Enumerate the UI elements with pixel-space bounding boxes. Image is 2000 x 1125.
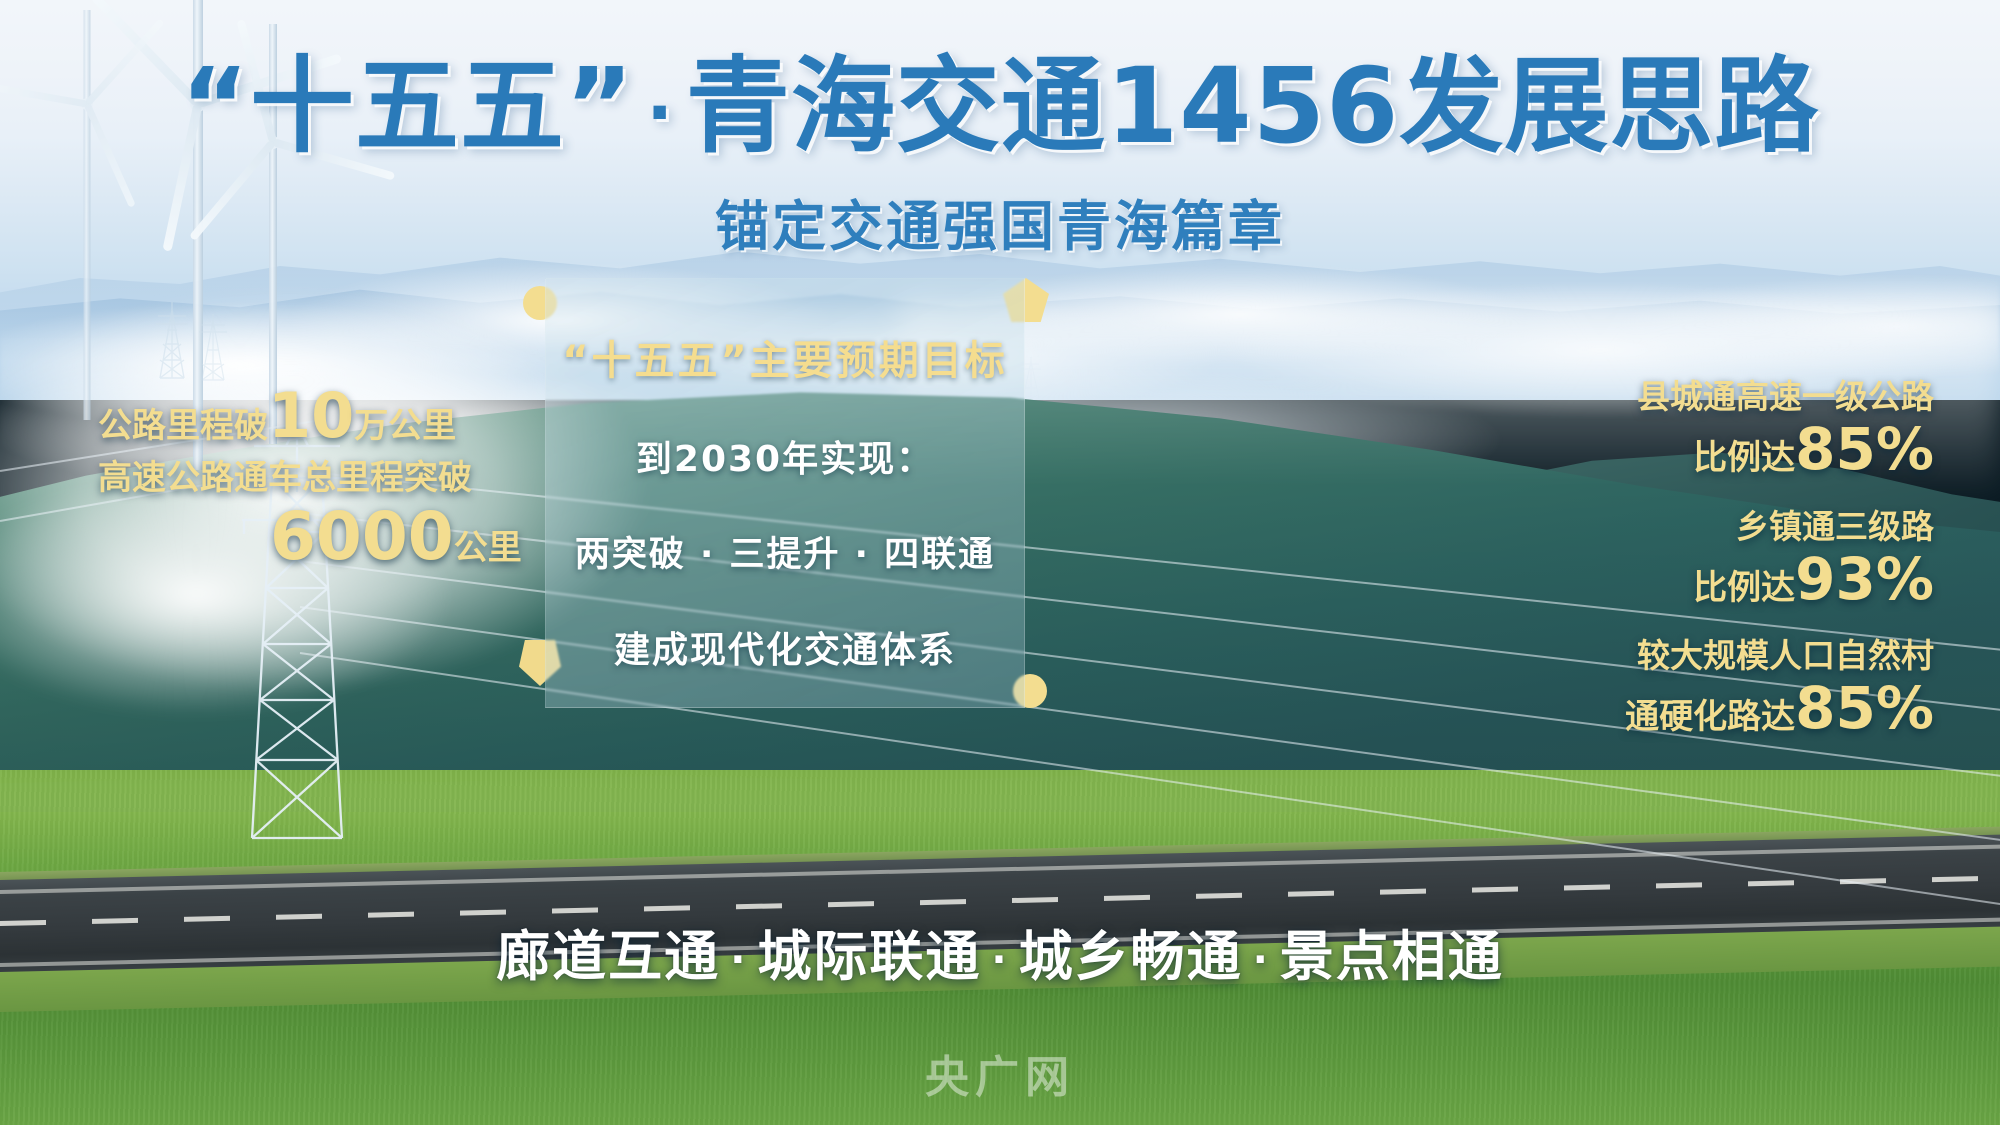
banner-item-3: 城乡畅通 [1019,925,1243,988]
stat-left-1-label: 公路里程破 [98,406,268,446]
page-title: “十五五”·青海交通1456发展思路 [0,48,2000,164]
stat-left-2-label: 高速公路通车总里程突破 [98,458,472,498]
stat-left-item-2-value: 6000公里 [270,504,528,570]
goals-line-target-year: 到2030年实现： [636,430,934,482]
stat-right-2-value-prefix: 比例达 [1693,568,1795,608]
stats-left-block: 公路里程破10万公里 高速公路通车总里程突破 6000公里 [98,382,528,570]
stat-right-1-value: 85 [1795,415,1876,483]
stat-right-2-label: 乡镇通三级路 [1464,508,1934,546]
stat-left-item-1: 公路里程破10万公里 [98,382,528,450]
stat-right-3-value-row: 通硬化路达85% [1464,677,1934,741]
watermark-logo: 央广网 [0,1041,2000,1105]
stat-left-1-value: 10 [268,379,354,452]
banner-sep-3: · [1243,937,1280,983]
banner-sep-1: · [720,937,757,983]
stat-right-1-value-row: 比例达85% [1464,418,1934,482]
stat-right-item-2: 乡镇通三级路 比例达93% [1464,508,1934,612]
stats-right-block: 县城通高速一级公路 比例达85% 乡镇通三级路 比例达93% 较大规模人口自然村… [1464,378,1934,767]
stat-right-2-unit: % [1876,545,1934,613]
goals-panel-content: “十五五”主要预期目标 到2030年实现： 两突破 · 三提升 · 四联通 建成… [545,278,1025,708]
headline-separator: · [634,72,686,154]
headline-plan-name: 十五五 [250,45,565,167]
stat-right-2-value-row: 比例达93% [1464,548,1934,612]
stat-left-1-unit: 万公里 [354,406,456,446]
bottom-banner: 廊道互通·城际联通·城乡畅通·景点相通 [0,912,2000,991]
stat-right-3-label: 较大规模人口自然村 [1464,637,1934,675]
stat-right-1-unit: % [1876,415,1934,483]
goals-line-system: 建成现代化交通体系 [614,621,956,673]
stat-right-item-1: 县城通高速一级公路 比例达85% [1464,378,1934,482]
poster-root: “十五五”·青海交通1456发展思路 锚定交通强国青海篇章 “十五五”主要预期目… [0,0,2000,1125]
stat-right-1-value-prefix: 比例达 [1693,438,1795,478]
stat-right-2-value: 93 [1795,545,1876,613]
banner-item-4: 景点相通 [1280,925,1504,988]
stat-left-2-value: 6000 [270,498,454,575]
banner-item-1: 廊道互通 [496,925,720,988]
banner-item-2: 城际联通 [757,925,981,988]
stat-right-3-value: 85 [1795,674,1876,742]
banner-sep-2: · [981,937,1018,983]
stat-right-item-3: 较大规模人口自然村 通硬化路达85% [1464,637,1934,741]
goals-line-framework: 两突破 · 三提升 · 四联通 [575,526,995,577]
stat-right-3-value-prefix: 通硬化路达 [1625,697,1795,737]
page-subtitle: 锚定交通强国青海篇章 [0,182,2000,261]
stat-right-3-unit: % [1876,674,1934,742]
headline-quote-close: ” [565,45,634,167]
headline-rest: 青海交通1456发展思路 [686,45,1819,167]
content-layer: “十五五”·青海交通1456发展思路 锚定交通强国青海篇章 “十五五”主要预期目… [0,0,2000,1125]
goals-panel-title: “十五五”主要预期目标 [562,328,1008,386]
headline-quote-open: “ [181,45,250,167]
stat-left-2-unit: 公里 [454,528,522,568]
stat-right-1-label: 县城通高速一级公路 [1464,378,1934,416]
stat-left-item-2-label: 高速公路通车总里程突破 [98,456,528,502]
